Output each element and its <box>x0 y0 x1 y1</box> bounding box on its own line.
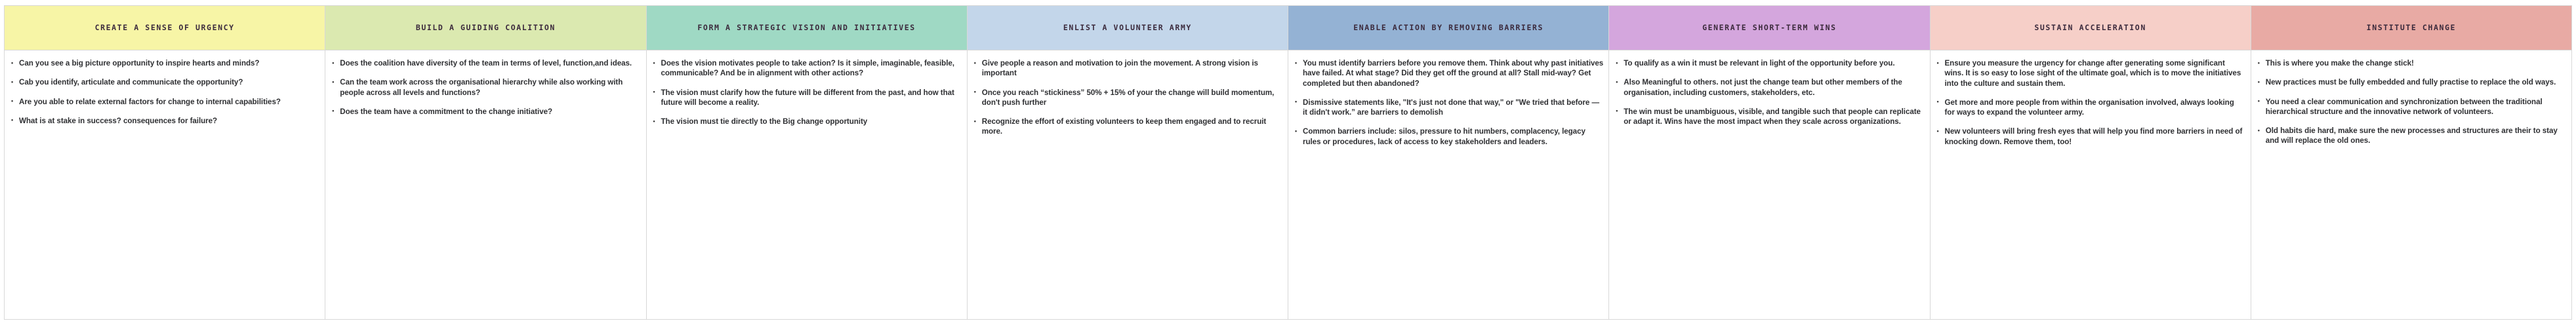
bullet-list: Give people a reason and motivation to j… <box>973 58 1282 137</box>
bullet-item[interactable]: Give people a reason and motivation to j… <box>973 58 1282 79</box>
column-header-label: INSTITUTE CHANGE <box>2367 23 2456 32</box>
bullet-item[interactable]: Does the coalition have diversity of the… <box>331 58 640 68</box>
bullet-item[interactable]: This is where you make the change stick! <box>2257 58 2566 68</box>
column-header-label: SUSTAIN ACCELERATION <box>2034 23 2146 32</box>
column-header-label: FORM A STRATEGIC VISION AND INITIATIVES <box>697 23 915 32</box>
bullet-item[interactable]: Cab you identify, articulate and communi… <box>10 77 319 87</box>
bullet-item[interactable]: Dismissive statements like, "It's just n… <box>1294 98 1603 118</box>
column-body: Can you see a big picture opportunity to… <box>5 50 325 319</box>
column-header-label: BUILD A GUIDING COALITION <box>416 23 556 32</box>
bullet-item[interactable]: The vision must tie directly to the Big … <box>652 117 962 126</box>
table-column[interactable]: FORM A STRATEGIC VISION AND INITIATIVESD… <box>647 6 968 319</box>
column-header-label: ENLIST A VOLUNTEER ARMY <box>1063 23 1192 32</box>
bullet-item[interactable]: You need a clear communication and synch… <box>2257 97 2566 117</box>
bullet-list: Ensure you measure the urgency for chang… <box>1936 58 2245 147</box>
bullet-item[interactable]: Does the team have a commitment to the c… <box>331 107 640 117</box>
table-column[interactable]: ENLIST A VOLUNTEER ARMYGive people a rea… <box>968 6 1288 319</box>
column-header[interactable]: SUSTAIN ACCELERATION <box>1931 6 2251 50</box>
bullet-list: This is where you make the change stick!… <box>2257 58 2566 146</box>
bullet-item[interactable]: Are you able to relate external factors … <box>10 97 319 107</box>
column-header[interactable]: ENLIST A VOLUNTEER ARMY <box>968 6 1288 50</box>
bullet-item[interactable]: Does the vision motivates people to take… <box>652 58 962 79</box>
bullet-item[interactable]: Recognize the effort of existing volunte… <box>973 117 1282 137</box>
bullet-item[interactable]: The win must be unambiguous, visible, an… <box>1614 107 1924 127</box>
column-header[interactable]: INSTITUTE CHANGE <box>2251 6 2571 50</box>
bullet-item[interactable]: Can the team work across the organisatio… <box>331 77 640 98</box>
bullet-item[interactable]: You must identify barriers before you re… <box>1294 58 1603 88</box>
column-header[interactable]: FORM A STRATEGIC VISION AND INITIATIVES <box>647 6 967 50</box>
column-header[interactable]: GENERATE SHORT-TERM WINS <box>1609 6 1929 50</box>
bullet-item[interactable]: The vision must clarify how the future w… <box>652 88 962 108</box>
column-header[interactable]: CREATE A SENSE OF URGENCY <box>5 6 325 50</box>
column-body: Does the vision motivates people to take… <box>647 50 967 319</box>
bullet-item[interactable]: Once you reach “stickiness” 50% + 15% of… <box>973 88 1282 108</box>
bullet-list: Does the coalition have diversity of the… <box>331 58 640 117</box>
bullet-item[interactable]: New practices must be fully embedded and… <box>2257 77 2566 87</box>
bullet-item[interactable]: New volunteers will bring fresh eyes tha… <box>1936 126 2245 147</box>
column-header[interactable]: ENABLE ACTION BY REMOVING BARRIERS <box>1288 6 1608 50</box>
column-body: Give people a reason and motivation to j… <box>968 50 1288 319</box>
bullet-list: Can you see a big picture opportunity to… <box>10 58 319 126</box>
bullet-item[interactable]: Can you see a big picture opportunity to… <box>10 58 319 68</box>
column-body: This is where you make the change stick!… <box>2251 50 2571 319</box>
bullet-item[interactable]: Get more and more people from within the… <box>1936 98 2245 118</box>
bullet-item[interactable]: To qualify as a win it must be relevant … <box>1614 58 1924 68</box>
column-header-label: GENERATE SHORT-TERM WINS <box>1702 23 1837 32</box>
column-body: To qualify as a win it must be relevant … <box>1609 50 1929 319</box>
table-column[interactable]: INSTITUTE CHANGEThis is where you make t… <box>2251 6 2571 319</box>
bullet-item[interactable]: What is at stake in success? consequence… <box>10 116 319 126</box>
bullet-list: To qualify as a win it must be relevant … <box>1614 58 1924 126</box>
table-column[interactable]: ENABLE ACTION BY REMOVING BARRIERSYou mu… <box>1288 6 1609 319</box>
bullet-item[interactable]: Ensure you measure the urgency for chang… <box>1936 58 2245 88</box>
bullet-item[interactable]: Common barriers include: silos, pressure… <box>1294 126 1603 147</box>
column-body: You must identify barriers before you re… <box>1288 50 1608 319</box>
column-header-label: ENABLE ACTION BY REMOVING BARRIERS <box>1353 23 1544 32</box>
table-column[interactable]: CREATE A SENSE OF URGENCYCan you see a b… <box>5 6 325 319</box>
bullet-item[interactable]: Also Meaningful to others. not just the … <box>1614 77 1924 98</box>
table-column[interactable]: BUILD A GUIDING COALITIONDoes the coalit… <box>325 6 646 319</box>
column-body: Does the coalition have diversity of the… <box>325 50 645 319</box>
bullet-item[interactable]: Old habits die hard, make sure the new p… <box>2257 126 2566 146</box>
bullet-list: Does the vision motivates people to take… <box>652 58 962 126</box>
column-header-label: CREATE A SENSE OF URGENCY <box>95 23 235 32</box>
bullet-list: You must identify barriers before you re… <box>1294 58 1603 147</box>
table-column[interactable]: SUSTAIN ACCELERATIONEnsure you measure t… <box>1931 6 2251 319</box>
kotter-eight-step-table: CREATE A SENSE OF URGENCYCan you see a b… <box>4 5 2572 320</box>
change-model-board: miro CREATE A SENSE OF URGENCYCan you se… <box>0 0 2576 325</box>
table-column[interactable]: GENERATE SHORT-TERM WINSTo qualify as a … <box>1609 6 1930 319</box>
column-header[interactable]: BUILD A GUIDING COALITION <box>325 6 645 50</box>
column-body: Ensure you measure the urgency for chang… <box>1931 50 2251 319</box>
